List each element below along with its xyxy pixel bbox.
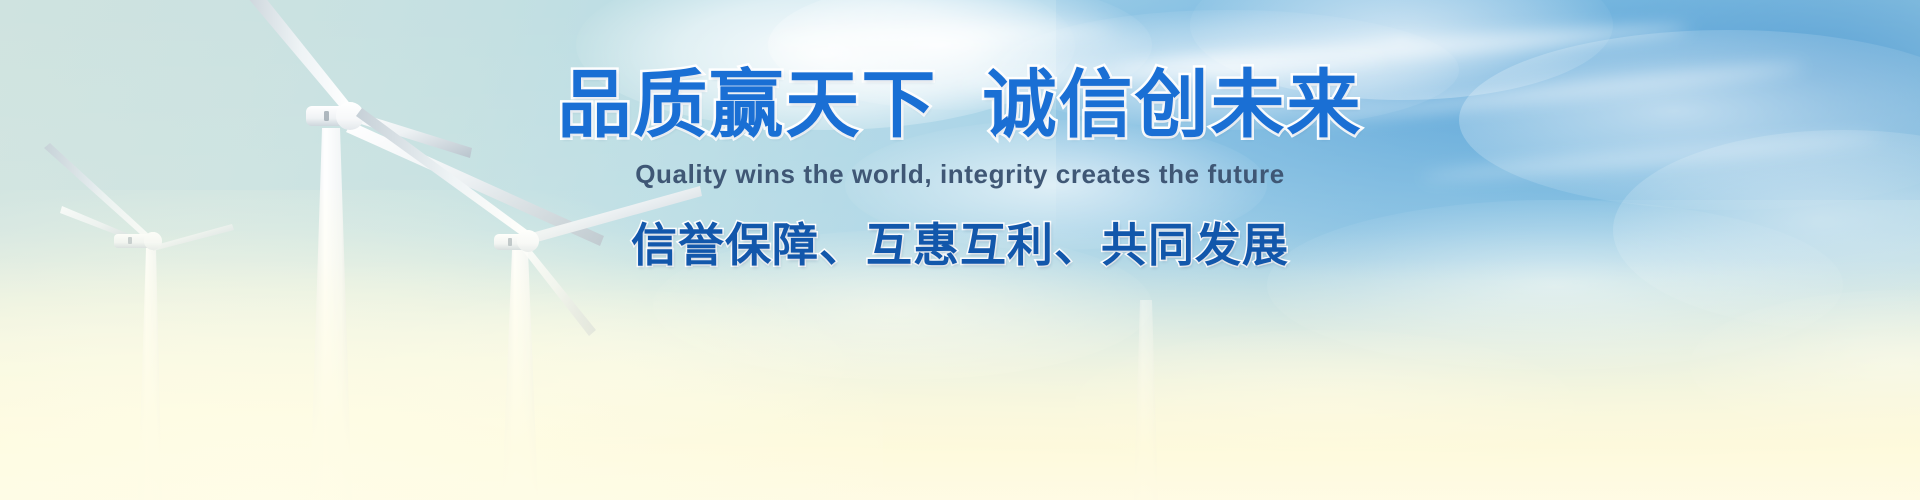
- banner-tagline: 信誉保障、互惠互利、共同发展: [631, 222, 1289, 268]
- banner-headline: 品质赢天下 诚信创未来: [557, 68, 1362, 142]
- banner-copy: 品质赢天下 诚信创未来 Quality wins the world, inte…: [0, 0, 1920, 500]
- banner-subtitle: Quality wins the world, integrity create…: [635, 159, 1285, 190]
- promotional-banner: 品质赢天下 诚信创未来 Quality wins the world, inte…: [0, 0, 1920, 500]
